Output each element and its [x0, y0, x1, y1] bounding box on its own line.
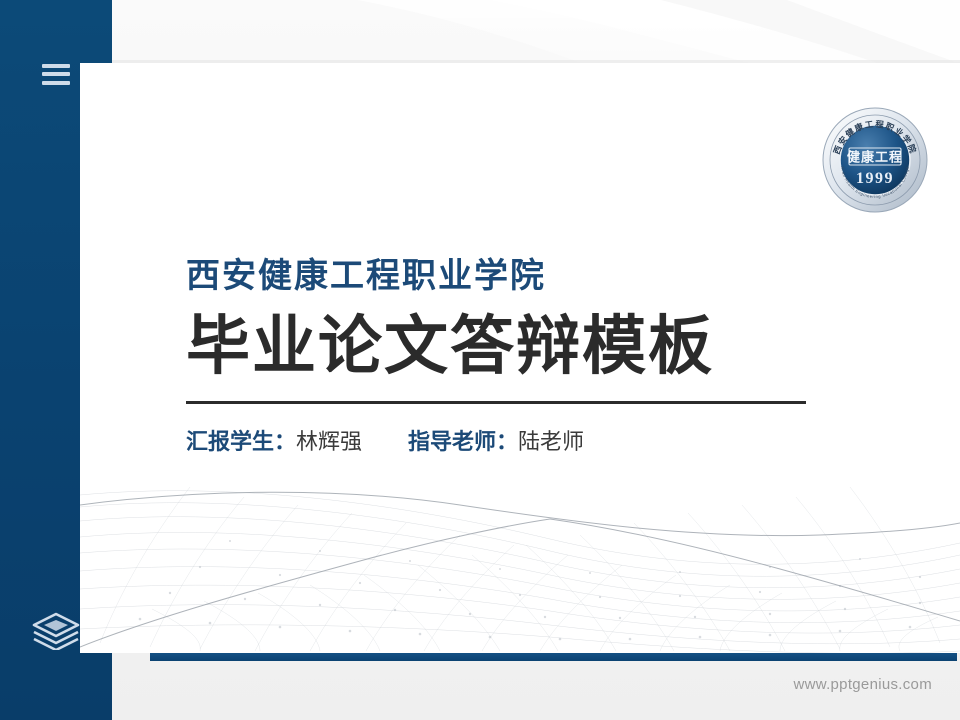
title-divider — [186, 401, 806, 404]
wireframe-mesh-graphic — [80, 443, 960, 653]
student-label: 汇报学生： — [186, 429, 296, 454]
presenter-line: 汇报学生：林辉强指导老师：陆老师 — [186, 428, 826, 457]
page-title: 毕业论文答辩模板 — [186, 311, 826, 383]
layers-stack-icon — [30, 610, 82, 650]
advisor-name: 陆老师 — [518, 429, 584, 454]
hamburger-menu-icon — [42, 64, 70, 85]
card-footer-bar — [150, 653, 957, 661]
school-name: 西安健康工程职业学院 — [186, 258, 826, 295]
student-name: 林辉强 — [296, 429, 362, 454]
school-seal-logo: 西安健康工程职业学院 Xi'an Health Engineering Voca… — [821, 106, 929, 214]
slide-canvas: 西安健康工程职业学院 Xi'an Health Engineering Voca… — [0, 0, 960, 720]
advisor-label: 指导老师： — [408, 429, 518, 454]
site-watermark: www.pptgenius.com — [794, 676, 933, 693]
title-block: 西安健康工程职业学院 毕业论文答辩模板 汇报学生：林辉强指导老师：陆老师 — [186, 258, 826, 457]
svg-text:1999: 1999 — [856, 170, 894, 187]
svg-text:健康工程: 健康工程 — [847, 150, 903, 166]
